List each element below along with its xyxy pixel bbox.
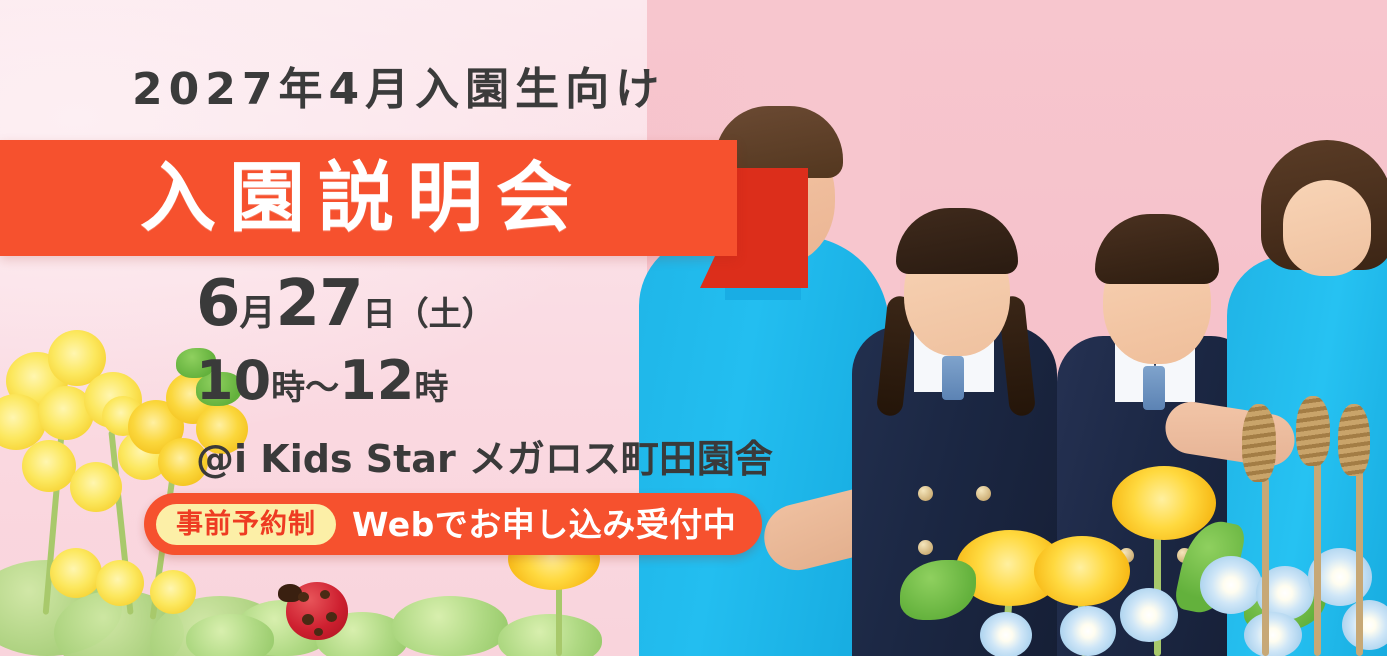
event-date: 6 月 27 日 （土）: [196, 272, 773, 336]
blazer-button: [1119, 494, 1134, 509]
blazer-button: [1119, 548, 1134, 563]
girl-hair: [896, 208, 1018, 274]
date-day-unit: 日: [363, 297, 396, 330]
blazer-button: [976, 486, 991, 501]
banner-title: 入園説明会: [0, 160, 585, 236]
title-ribbon: 入園説明会: [0, 140, 737, 256]
time-end-unit: 時: [414, 371, 448, 405]
date-day-number: 27: [276, 272, 363, 336]
cta-label: Webでお申し込み受付中: [352, 508, 736, 541]
event-details: 6 月 27 日 （土） 10 時 ～ 12 時 @i Kids Star メガ…: [196, 272, 773, 483]
application-cta-button[interactable]: 事前予約制 Webでお申し込み受付中: [144, 493, 762, 555]
time-start-unit: 時: [271, 371, 305, 405]
blazer-button: [976, 540, 991, 555]
time-end: 12: [339, 354, 414, 408]
date-weekday: （土）: [396, 297, 495, 330]
girl-necktie: [942, 356, 964, 400]
blazer-button: [1177, 494, 1192, 509]
person-female-teacher: [1227, 56, 1387, 656]
event-time: 10 時 ～ 12 時: [196, 354, 773, 408]
blazer-button: [918, 540, 933, 555]
date-month-number: 6: [196, 272, 240, 336]
reservation-required-badge: 事前予約制: [156, 504, 336, 545]
female-teacher-face: [1283, 180, 1371, 276]
event-venue: @i Kids Star メガロス町田園舎: [196, 428, 773, 483]
date-month-unit: 月: [240, 296, 276, 332]
boy-hair: [1095, 214, 1219, 284]
banner-lede: 2027年4月入園生向け: [132, 68, 665, 112]
event-banner: 入園説明会 2027年4月入園生向け 6 月 27 日 （土） 10 時 ～ 1…: [0, 0, 1387, 656]
time-start: 10: [196, 354, 271, 408]
blazer-button: [1177, 548, 1192, 563]
time-separator: ～: [305, 371, 339, 405]
boy-necktie: [1143, 366, 1165, 410]
person-girl-student: [852, 96, 1062, 656]
blazer-button: [918, 486, 933, 501]
